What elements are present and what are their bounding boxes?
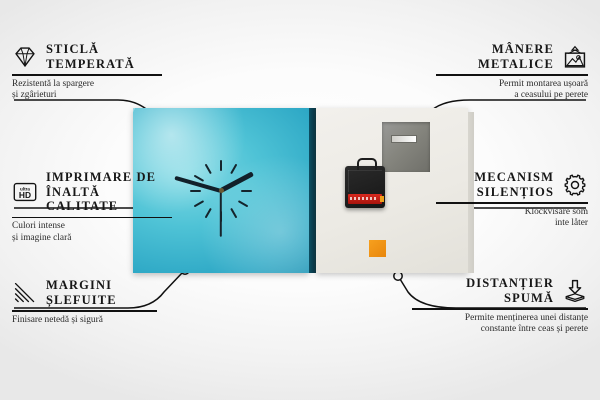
callout-header: MÂNERE METALICE	[436, 42, 588, 71]
callout-header: ultra HD IMPRIMARE DE ÎNALTĂ CALITATE	[12, 170, 172, 214]
diamond-icon	[12, 45, 38, 69]
foam-spacer-icon	[562, 279, 588, 303]
picture-hanger-icon	[562, 45, 588, 69]
callout-header: MARGINI ȘLEFUITE	[12, 278, 157, 307]
product-image	[133, 108, 468, 273]
callout-divider	[436, 202, 588, 204]
connector-dot-distantier	[394, 272, 402, 280]
callout-divider	[412, 308, 588, 310]
callout-title: IMPRIMARE DE ÎNALTĂ CALITATE	[46, 170, 172, 214]
metal-hanger-plate	[382, 122, 430, 172]
callout-header: MECANISM SILENȚIOS	[436, 170, 588, 199]
callout-title: MECANISM SILENȚIOS	[474, 170, 554, 199]
mechanism-hanger-loop	[357, 158, 377, 170]
callout-subtitle: Culori intense și imagine clară	[12, 221, 172, 244]
callout-divider	[12, 310, 157, 312]
infographic-canvas: STICLĂ TEMPERATĂ Rezistentă la spargere …	[0, 0, 600, 400]
clock-glass-edge	[309, 108, 316, 273]
callout-divider	[436, 74, 588, 76]
callout-subtitle: Finisare netedă și sigură	[12, 315, 157, 327]
callout-imprimare-inalta-calitate: ultra HD IMPRIMARE DE ÎNALTĂ CALITATE Cu…	[12, 170, 172, 244]
clock-second-hand	[220, 191, 222, 237]
ultra-hd-icon: ultra HD	[12, 180, 38, 204]
callout-header: STICLĂ TEMPERATĂ	[12, 42, 162, 71]
callout-subtitle: Permit montarea ușoară a ceasului pe per…	[436, 79, 588, 102]
gear-icon	[562, 173, 588, 197]
callout-header: DISTANȚIER SPUMĂ	[412, 276, 588, 305]
callout-distantier-spuma: DISTANȚIER SPUMĂ Permite menținerea unei…	[412, 276, 588, 336]
callout-subtitle: Rezistentă la spargere și zgârieturi	[12, 79, 162, 102]
battery	[348, 194, 382, 204]
clock-center-cap	[219, 188, 224, 193]
callout-title: DISTANȚIER SPUMĂ	[466, 276, 554, 305]
callout-title: MARGINI ȘLEFUITE	[46, 278, 117, 307]
callout-title: STICLĂ TEMPERATĂ	[46, 42, 135, 71]
svg-text:HD: HD	[19, 190, 31, 200]
callout-title: MÂNERE METALICE	[478, 42, 554, 71]
callout-manere-metalice: MÂNERE METALICE Permit montarea ușoară a…	[436, 42, 588, 102]
polished-edges-icon	[12, 281, 38, 305]
callout-subtitle: Permite menținerea unei distanțe constan…	[412, 313, 588, 336]
clock-mechanism	[345, 166, 385, 208]
callout-margini-slefuite: MARGINI ȘLEFUITE Finisare netedă și sigu…	[12, 278, 157, 326]
mechanism-texture	[348, 170, 382, 192]
callout-subtitle: Klockvisare som inte låter	[436, 207, 588, 230]
callout-divider	[12, 74, 162, 76]
callout-divider	[12, 217, 172, 219]
callout-sticla-temperata: STICLĂ TEMPERATĂ Rezistentă la spargere …	[12, 42, 162, 102]
foam-spacer-pad	[369, 240, 386, 257]
callout-mecanism-silentios: MECANISM SILENȚIOS Klockvisare som inte …	[436, 170, 588, 230]
